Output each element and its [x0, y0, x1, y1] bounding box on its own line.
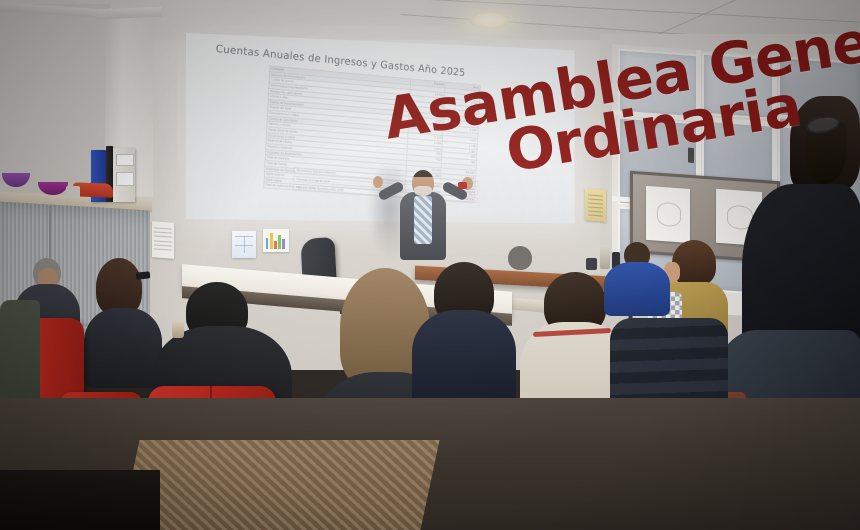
table-object — [586, 258, 597, 270]
noticeboard-paper — [646, 186, 690, 243]
window-handle[interactable] — [688, 126, 694, 141]
presenter-beard — [414, 186, 432, 196]
notice-sheet-left — [152, 221, 174, 259]
attendee-mustard-vest-woman-hair — [672, 240, 716, 286]
attendee-woman-glasses-body — [84, 308, 162, 388]
laser-pointer — [458, 182, 467, 189]
yellow-notice — [585, 188, 606, 222]
slide-summary-label: Cuentas en Caja al cierre — [296, 177, 330, 183]
slide-summary-label: Ingresos Netos Asamblea Año 2025 — [296, 185, 344, 192]
attendee-back-head — [508, 246, 532, 270]
ceiling-downlight-icon — [470, 12, 510, 29]
window-pane — [618, 48, 700, 120]
attendee-navy-jacket-body — [412, 310, 516, 410]
paper-mark — [657, 202, 682, 227]
poster-blue — [232, 231, 256, 258]
attendee-blue-shirt-body — [604, 262, 670, 316]
glasses-icon — [136, 271, 151, 279]
carpet-rug — [120, 440, 439, 530]
box-grey — [66, 186, 80, 198]
poster-chart — [263, 229, 289, 252]
window-pane — [702, 53, 776, 120]
slide-summary-label: Remanente Ejercicio Anterior — [297, 168, 336, 175]
paper-cup — [172, 322, 184, 338]
presenter-left-hand — [373, 176, 383, 188]
thermos-flask — [600, 245, 610, 269]
photo-scene: Cuentas Anuales de Ingresos y Gastos Año… — [0, 0, 860, 530]
window-handle[interactable] — [688, 148, 694, 163]
floor-shadow — [0, 470, 160, 530]
presenter-shirt — [414, 196, 432, 244]
binder-white — [113, 148, 135, 202]
